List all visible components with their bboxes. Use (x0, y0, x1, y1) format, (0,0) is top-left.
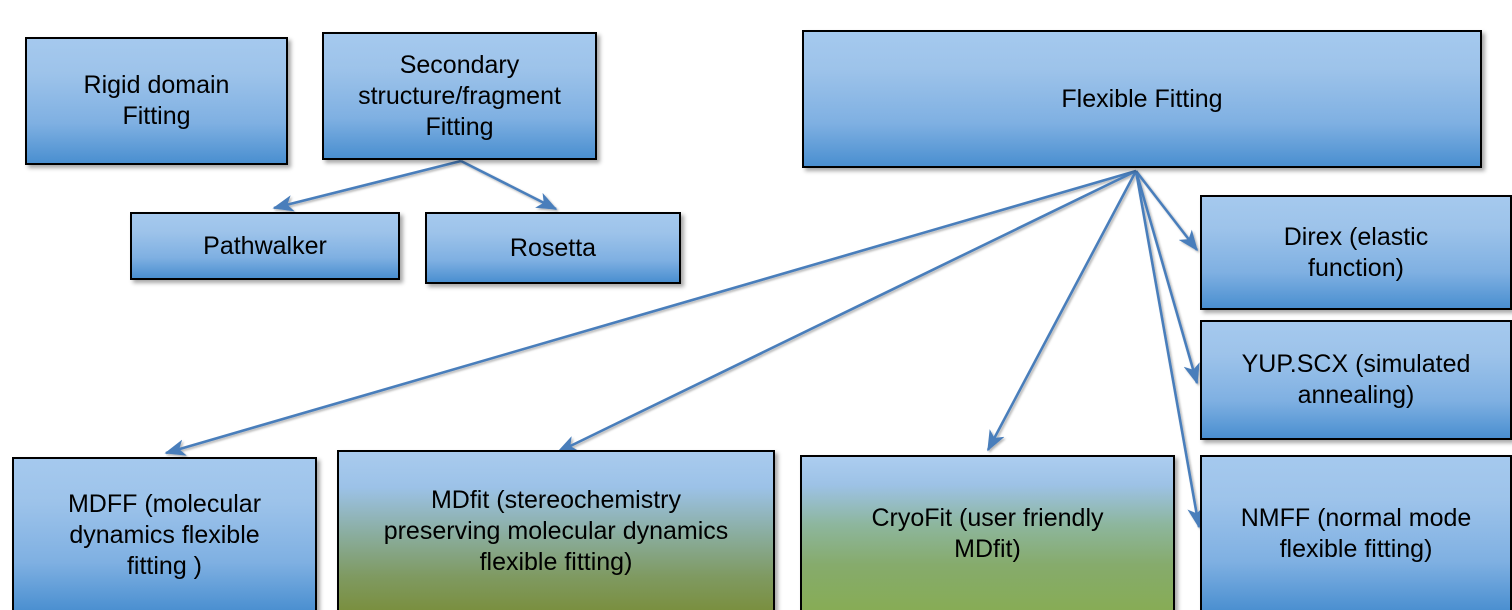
edge-secondary-to-pathwalker (274, 161, 461, 208)
node-rigid-domain-fitting[interactable]: Rigid domain Fitting (25, 37, 288, 165)
edge-flexible-to-cryofit (988, 171, 1136, 450)
node-nmff[interactable]: NMFF (normal mode flexible fitting) (1200, 455, 1512, 610)
diagram-canvas: Rigid domain Fitting Secondary structure… (0, 0, 1512, 610)
edge-flexible-to-direx (1136, 171, 1197, 250)
node-direx[interactable]: Direx (elastic function) (1200, 195, 1512, 310)
node-yup-scx[interactable]: YUP.SCX (simulated annealing) (1200, 320, 1512, 440)
edge-flexible-to-yupscx (1136, 171, 1197, 383)
node-cryofit[interactable]: CryoFit (user friendly MDfit) (800, 455, 1175, 610)
node-secondary-structure-fitting[interactable]: Secondary structure/fragment Fitting (322, 32, 597, 160)
edge-secondary-to-rosetta (461, 161, 556, 209)
node-mdfit[interactable]: MDfit (stereochemistry preserving molecu… (337, 450, 775, 610)
node-pathwalker[interactable]: Pathwalker (130, 212, 400, 280)
node-flexible-fitting[interactable]: Flexible Fitting (802, 30, 1482, 168)
node-mdff[interactable]: MDFF (molecular dynamics flexible fittin… (12, 457, 317, 610)
node-rosetta[interactable]: Rosetta (425, 212, 681, 284)
